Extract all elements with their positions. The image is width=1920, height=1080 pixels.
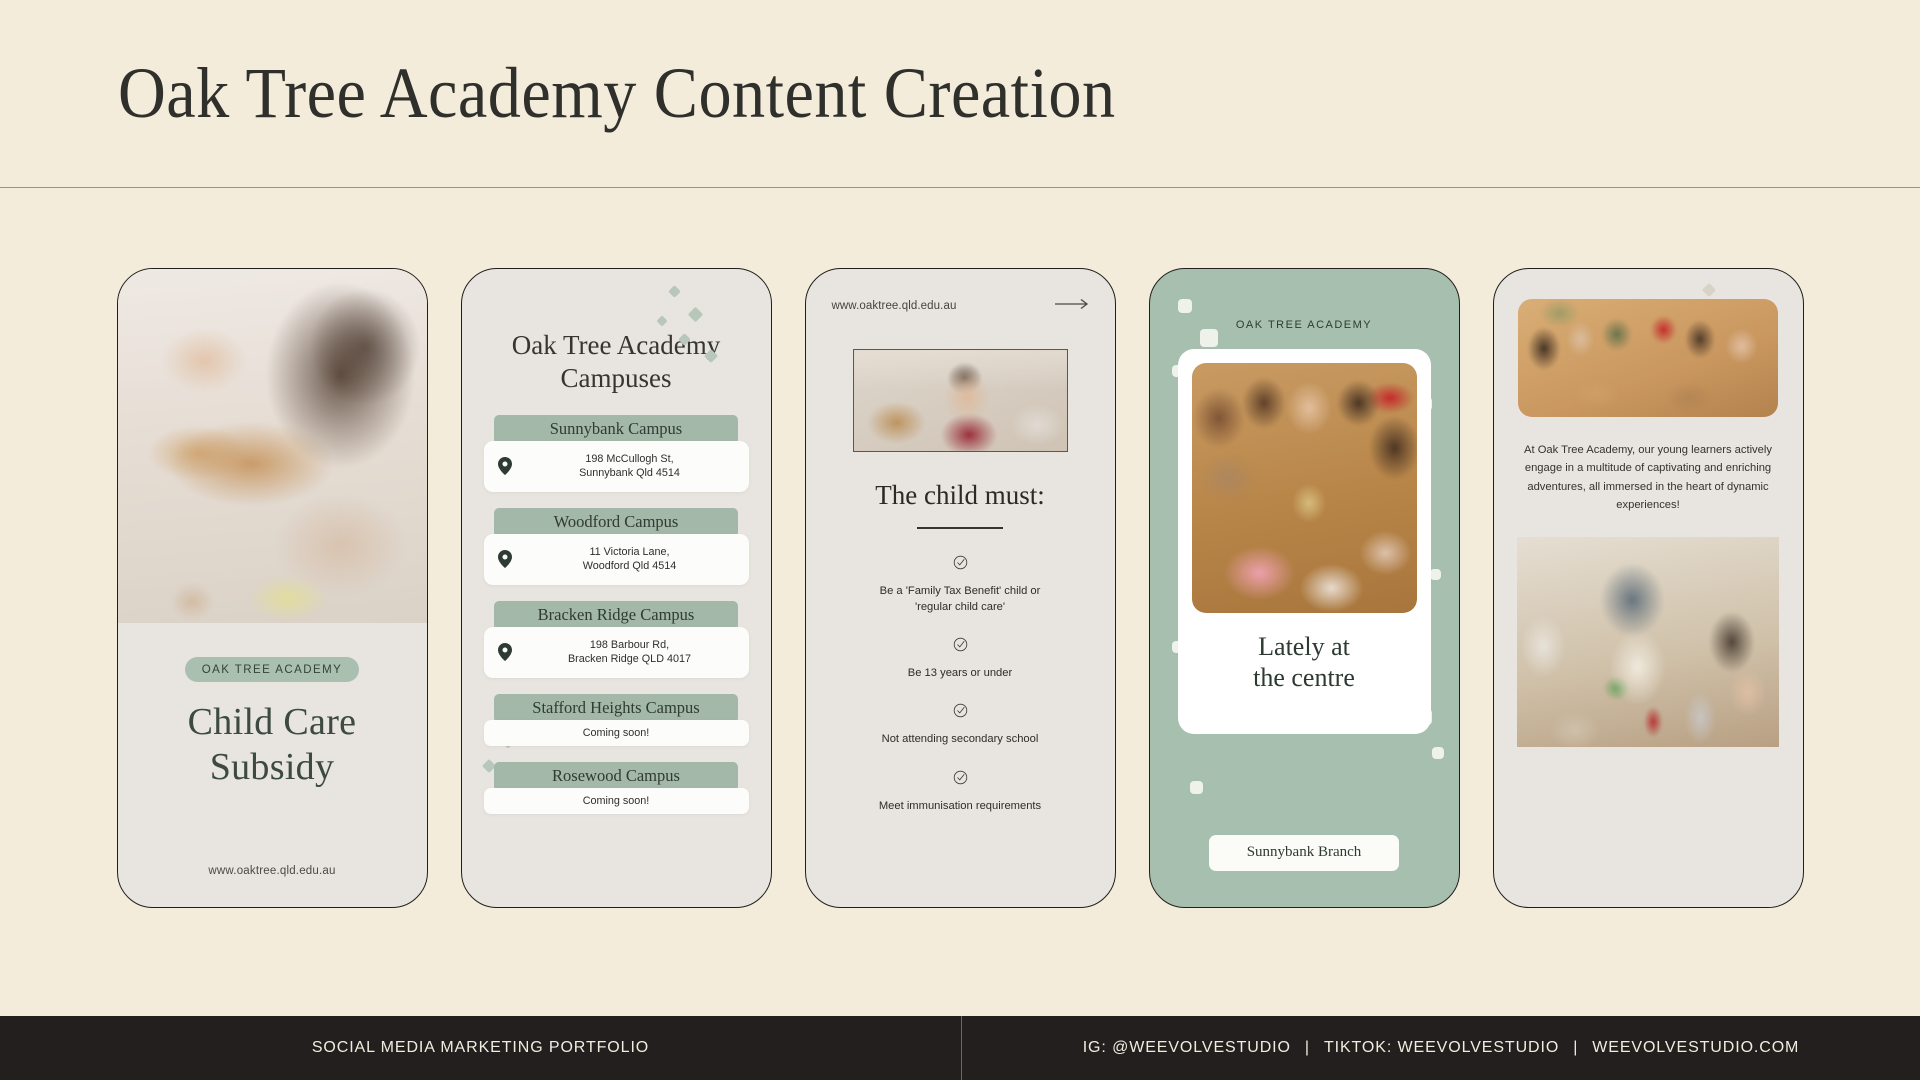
oak-tree-academy-badge: OAK TREE ACADEMY bbox=[185, 657, 360, 682]
card-campuses[interactable]: Oak Tree Academy Campuses Sunnybank Camp… bbox=[461, 268, 772, 908]
card-child-care-subsidy[interactable]: OAK TREE ACADEMY Child Care Subsidy www.… bbox=[117, 268, 428, 908]
sunnybank-branch-button[interactable]: Sunnybank Branch bbox=[1209, 835, 1399, 871]
campus-item-rosewood[interactable]: Rosewood Campus Coming soon! bbox=[484, 762, 749, 814]
campus-item-stafford-heights[interactable]: Stafford Heights Campus Coming soon! bbox=[484, 694, 749, 746]
footer-website[interactable]: WEEVOLVESTUDIO.COM bbox=[1592, 1039, 1799, 1057]
card5-photo-bottom bbox=[1517, 537, 1779, 747]
cards-row: OAK TREE ACADEMY Child Care Subsidy www.… bbox=[0, 268, 1920, 908]
card1-photo bbox=[118, 269, 427, 623]
card5-photo-top bbox=[1518, 299, 1778, 417]
eligibility-item-text: Be a 'Family Tax Benefit' child or 'regu… bbox=[832, 583, 1089, 615]
eligibility-item-text: Meet immunisation requirements bbox=[832, 798, 1089, 814]
campus-address-text: 198 Barbour Rd, Bracken Ridge QLD 4017 bbox=[523, 638, 737, 667]
location-pin-icon bbox=[498, 457, 512, 475]
card3-divider bbox=[917, 527, 1003, 529]
card4-caption: Lately at the centre bbox=[1178, 631, 1431, 693]
check-circle-icon bbox=[953, 772, 968, 789]
card3-url[interactable]: www.oaktree.qld.edu.au bbox=[832, 300, 957, 312]
card4-brand: OAK TREE ACADEMY bbox=[1150, 269, 1459, 331]
card1-body: OAK TREE ACADEMY Child Care Subsidy www.… bbox=[118, 623, 427, 907]
campus-address-card: 198 Barbour Rd, Bracken Ridge QLD 4017 bbox=[484, 627, 749, 678]
card4-photo bbox=[1192, 363, 1417, 613]
check-circle-icon bbox=[953, 557, 968, 574]
card-eligibility[interactable]: www.oaktree.qld.edu.au The child must: B… bbox=[805, 268, 1116, 908]
footer-portfolio-label: SOCIAL MEDIA MARKETING PORTFOLIO bbox=[0, 1016, 962, 1080]
campus-name: Stafford Heights Campus bbox=[494, 694, 738, 723]
campus-address-text: 11 Victoria Lane, Woodford Qld 4514 bbox=[523, 545, 737, 574]
footer-separator: | bbox=[1559, 1039, 1592, 1057]
check-circle-icon bbox=[953, 639, 968, 656]
footer-socials: IG: @WEEVOLVESTUDIO | TIKTOK: WEEVOLVEST… bbox=[962, 1016, 1920, 1080]
eligibility-item-text: Not attending secondary school bbox=[832, 731, 1089, 747]
eligibility-item: Not attending secondary school bbox=[832, 703, 1089, 747]
campus-name: Sunnybank Campus bbox=[494, 415, 738, 444]
footer-instagram[interactable]: IG: @WEEVOLVESTUDIO bbox=[1083, 1039, 1291, 1057]
campus-name: Rosewood Campus bbox=[494, 762, 738, 791]
page-header: Oak Tree Academy Content Creation bbox=[0, 0, 1920, 188]
footer-tiktok[interactable]: TIKTOK: WEEVOLVESTUDIO bbox=[1324, 1039, 1559, 1057]
card5-body-text: At Oak Tree Academy, our young learners … bbox=[1494, 417, 1803, 515]
card3-heading: The child must: bbox=[806, 480, 1115, 511]
campus-name: Bracken Ridge Campus bbox=[494, 601, 738, 630]
location-pin-icon bbox=[498, 550, 512, 568]
campus-name: Woodford Campus bbox=[494, 508, 738, 537]
arrow-right-icon[interactable] bbox=[1055, 297, 1089, 315]
check-circle-icon bbox=[953, 705, 968, 722]
card2-title: Oak Tree Academy Campuses bbox=[462, 269, 771, 395]
eligibility-item-text: Be 13 years or under bbox=[832, 665, 1089, 681]
page-footer: SOCIAL MEDIA MARKETING PORTFOLIO IG: @WE… bbox=[0, 1016, 1920, 1080]
eligibility-item: Be a 'Family Tax Benefit' child or 'regu… bbox=[832, 555, 1089, 615]
eligibility-item: Meet immunisation requirements bbox=[832, 770, 1089, 814]
campus-item-woodford[interactable]: Woodford Campus 11 Victoria Lane, Woodfo… bbox=[484, 508, 749, 585]
location-pin-icon bbox=[498, 643, 512, 661]
campus-address-card: 198 McCullogh St, Sunnybank Qld 4514 bbox=[484, 441, 749, 492]
card-engaging-learners[interactable]: At Oak Tree Academy, our young learners … bbox=[1493, 268, 1804, 908]
card-lately-at-the-centre[interactable]: OAK TREE ACADEMY Lately at the centre Su… bbox=[1149, 268, 1460, 908]
card1-url[interactable]: www.oaktree.qld.edu.au bbox=[118, 865, 427, 877]
card4-inner-panel: Lately at the centre bbox=[1178, 349, 1431, 734]
campus-address-text: 198 McCullogh St, Sunnybank Qld 4514 bbox=[523, 452, 737, 481]
campus-item-sunnybank[interactable]: Sunnybank Campus 198 McCullogh St, Sunny… bbox=[484, 415, 749, 492]
campus-status: Coming soon! bbox=[484, 720, 749, 746]
card3-topbar: www.oaktree.qld.edu.au bbox=[806, 269, 1115, 315]
card3-photo bbox=[853, 349, 1068, 452]
campus-item-bracken-ridge[interactable]: Bracken Ridge Campus 198 Barbour Rd, Bra… bbox=[484, 601, 749, 678]
eligibility-item: Be 13 years or under bbox=[832, 637, 1089, 681]
campus-list: Sunnybank Campus 198 McCullogh St, Sunny… bbox=[462, 395, 771, 814]
card1-heading: Child Care Subsidy bbox=[144, 700, 401, 790]
eligibility-list: Be a 'Family Tax Benefit' child or 'regu… bbox=[806, 555, 1115, 814]
footer-separator: | bbox=[1291, 1039, 1324, 1057]
campus-status: Coming soon! bbox=[484, 788, 749, 814]
cards-stage: OAK TREE ACADEMY Child Care Subsidy www.… bbox=[0, 188, 1920, 1016]
campus-address-card: 11 Victoria Lane, Woodford Qld 4514 bbox=[484, 534, 749, 585]
page-title: Oak Tree Academy Content Creation bbox=[118, 52, 1116, 135]
